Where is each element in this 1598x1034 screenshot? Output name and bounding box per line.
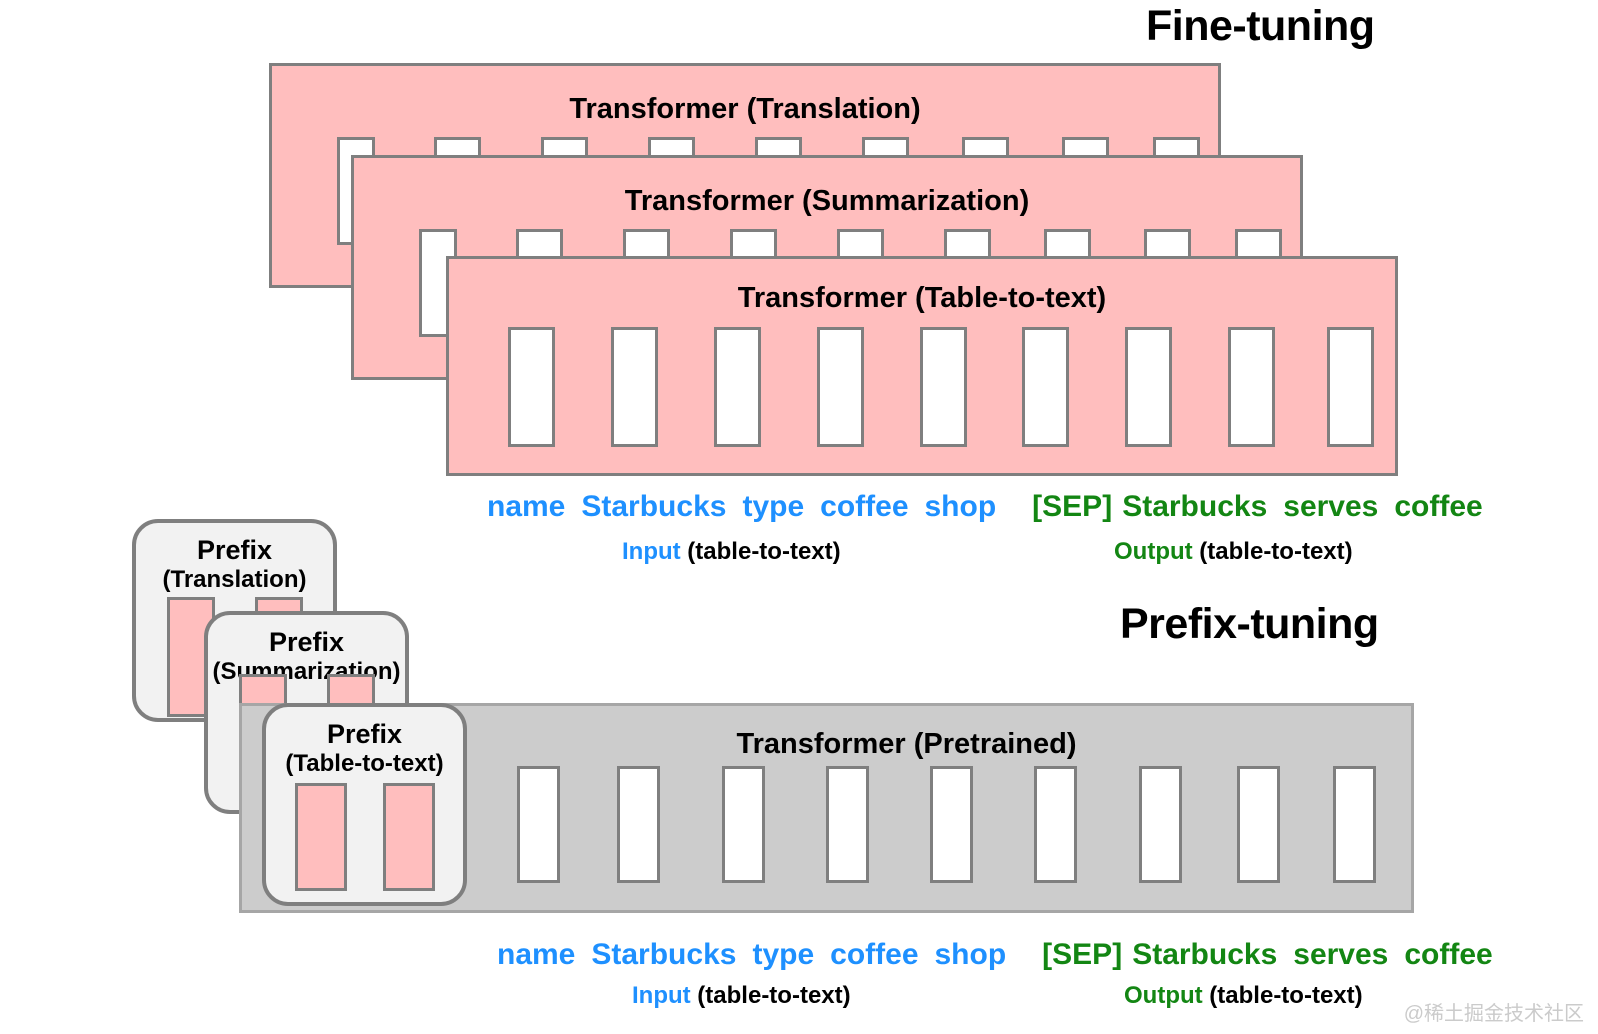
activation-cell <box>517 766 560 883</box>
token-input: coffee <box>820 490 908 524</box>
watermark: @稀土掘金技术社区 <box>1404 997 1584 1026</box>
output-label-key: Output <box>1124 982 1203 1009</box>
output-label-key: Output <box>1114 538 1193 565</box>
token-input: shop <box>935 938 1007 972</box>
prefix-card-translation-subtitle: (Translation) <box>136 566 333 594</box>
prefix-card-translation-title: Prefix <box>136 537 333 565</box>
prefix-card-summarization-title: Prefix <box>208 629 405 657</box>
token-input: type <box>752 938 814 972</box>
token-output: Starbucks <box>1122 490 1267 524</box>
input-label-key: Input <box>632 982 691 1009</box>
output-label-fine-tuning: Output (table-to-text) <box>1114 538 1353 566</box>
input-label-key: Input <box>622 538 681 565</box>
input-label-task: (table-to-text) <box>691 982 851 1009</box>
prefix-card-summarization-subtitle: (Summarization) <box>208 658 405 686</box>
activation-cell <box>930 766 973 883</box>
activation-cell <box>1228 327 1275 447</box>
output-label-prefix-tuning: Output (table-to-text) <box>1124 982 1363 1010</box>
output-label-task: (table-to-text) <box>1203 982 1363 1009</box>
activation-cell <box>1139 766 1182 883</box>
token-input: coffee <box>830 938 918 972</box>
activation-cell <box>817 327 864 447</box>
token-output: [SEP] <box>1042 938 1122 972</box>
input-label-fine-tuning: Input (table-to-text) <box>622 538 841 566</box>
fine-tuning-heading: Fine-tuning <box>1146 2 1375 51</box>
token-output: coffee <box>1404 938 1492 972</box>
activation-cell <box>714 327 761 447</box>
token-output: Starbucks <box>1132 938 1277 972</box>
input-label-task: (table-to-text) <box>681 538 841 565</box>
output-label-task: (table-to-text) <box>1193 538 1353 565</box>
token-output: serves <box>1283 490 1378 524</box>
activation-cell <box>617 766 660 883</box>
token-input: shop <box>925 490 997 524</box>
activation-cell <box>1333 766 1376 883</box>
token-row-fine-tuning: nameStarbuckstypecoffeeshop[SEP]Starbuck… <box>487 490 1483 524</box>
activation-cell <box>1034 766 1077 883</box>
activation-cell <box>611 327 658 447</box>
prefix-activation-bar <box>383 783 435 891</box>
token-output: [SEP] <box>1032 490 1112 524</box>
transformer-card-summarization-label: Transformer (Summarization) <box>354 185 1300 218</box>
transformer-card-translation-label: Transformer (Translation) <box>272 93 1218 126</box>
prefix-card-table-to-text-title: Prefix <box>266 721 463 749</box>
activation-cell <box>1125 327 1172 447</box>
input-label-prefix-tuning: Input (table-to-text) <box>632 982 851 1010</box>
token-input: name <box>487 490 565 524</box>
activation-cell <box>826 766 869 883</box>
token-input: name <box>497 938 575 972</box>
prefix-card-table-to-text-subtitle: (Table-to-text) <box>266 750 463 778</box>
transformer-card-table-to-text-label: Transformer (Table-to-text) <box>449 282 1395 315</box>
token-row-prefix-tuning: nameStarbuckstypecoffeeshop[SEP]Starbuck… <box>497 938 1493 972</box>
token-output: serves <box>1293 938 1388 972</box>
prefix-tuning-heading: Prefix-tuning <box>1120 600 1379 649</box>
token-input: type <box>742 490 804 524</box>
activation-cell <box>920 327 967 447</box>
token-input: Starbucks <box>581 490 726 524</box>
token-output: coffee <box>1394 490 1482 524</box>
activation-cell <box>1022 327 1069 447</box>
activation-cell <box>508 327 555 447</box>
activation-cell <box>1327 327 1374 447</box>
activation-cell <box>1237 766 1280 883</box>
activation-cell <box>722 766 765 883</box>
token-input: Starbucks <box>591 938 736 972</box>
prefix-activation-bar <box>295 783 347 891</box>
prefix-card-table-to-text[interactable]: Prefix (Table-to-text) <box>262 703 467 906</box>
transformer-card-pretrained-label: Transformer (Pretrained) <box>402 728 1411 761</box>
